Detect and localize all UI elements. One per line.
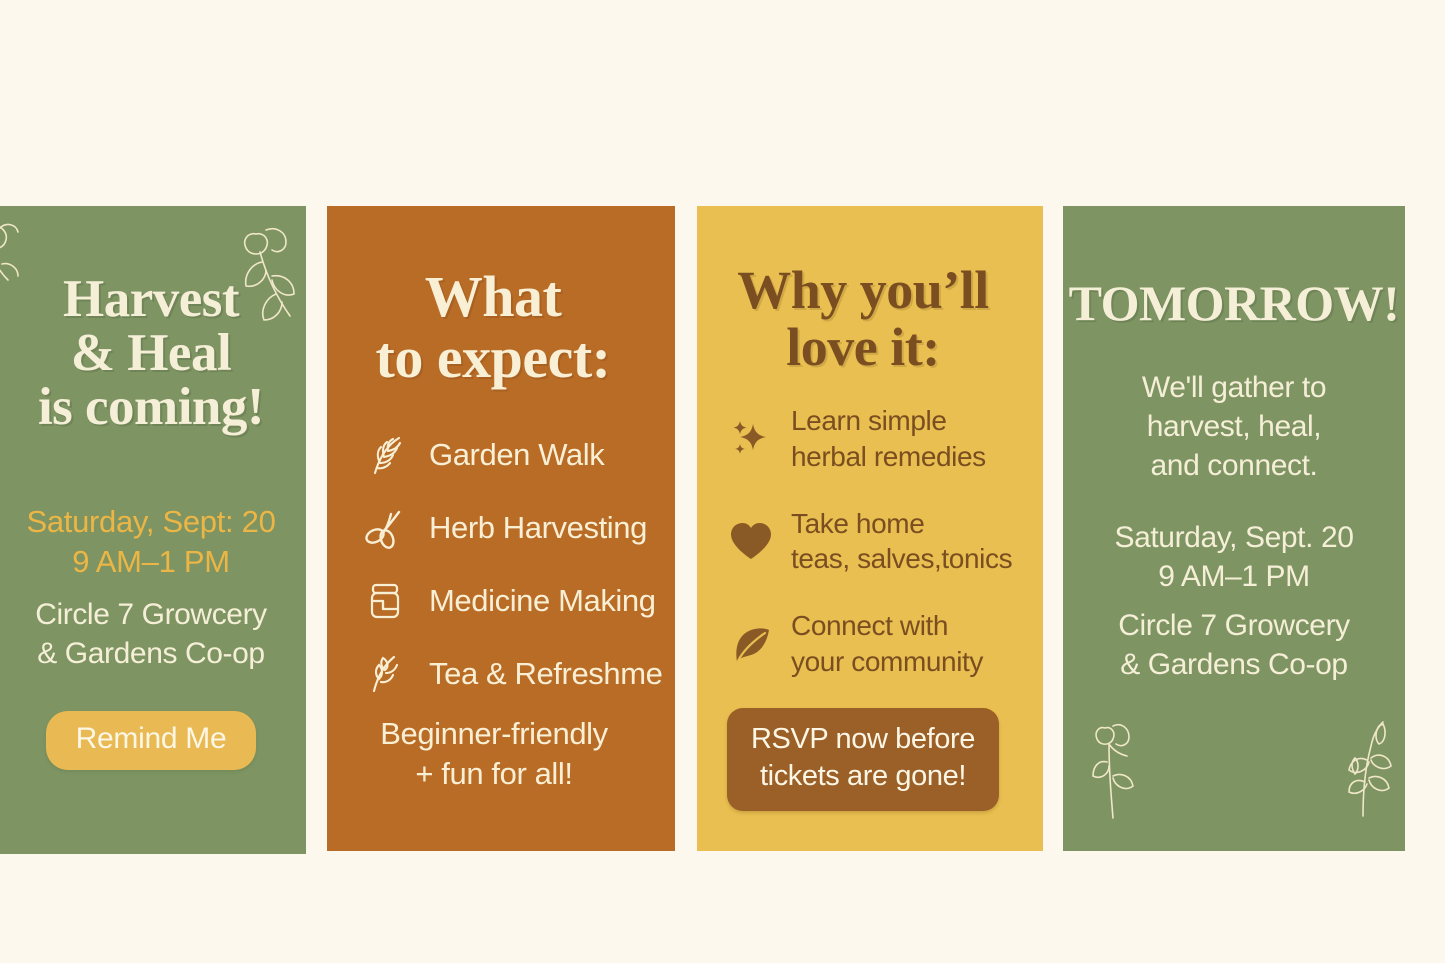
leaf-icon: [727, 620, 775, 668]
rsvp-button[interactable]: RSVP now beforetickets are gone!: [727, 708, 999, 811]
card4-datetime: Saturday, Sept. 209 AM–1 PM: [1063, 518, 1405, 596]
list-item: Garden Walk: [363, 418, 675, 491]
card-what-to-expect: Whatto expect: Garden Walk: [327, 206, 675, 851]
story-cards-canvas: Harvest& Healis coming! Saturday, Sept: …: [0, 0, 1445, 963]
card3-headline: Why you’lllove it:: [697, 262, 1029, 376]
remind-me-button[interactable]: Remind Me: [46, 711, 257, 770]
list-item: Take hometeas, salves,tonics: [727, 506, 1043, 578]
card2-bullet-list: Garden Walk Herb Harvesting: [363, 418, 675, 710]
card1-cta-wrap: Remind Me: [0, 711, 306, 770]
heart-icon: [727, 517, 775, 565]
list-item-label: Tea & Refreshme: [429, 656, 663, 692]
card3-bullet-list: Learn simpleherbal remedies Take hometea…: [727, 403, 1043, 711]
card-why-youll-love-it: Why you’lllove it: Learn simpleherbal re…: [697, 206, 1043, 851]
list-item-label: Connect withyour community: [791, 608, 983, 680]
list-item: Medicine Making: [363, 564, 675, 637]
flower-stem-icon: [1085, 714, 1155, 824]
list-item: Tea & Refreshme: [363, 637, 675, 710]
card1-datetime: Saturday, Sept: 209 AM–1 PM: [0, 502, 306, 581]
list-item-label: Take hometeas, salves,tonics: [791, 506, 1012, 578]
card1-venue: Circle 7 Growcery& Gardens Co-op: [0, 595, 306, 673]
card1-headline: Harvest& Healis coming!: [0, 272, 306, 434]
list-item: Connect withyour community: [727, 608, 1043, 680]
herb-sprig-icon: [363, 652, 407, 696]
list-item: Learn simpleherbal remedies: [727, 403, 1043, 475]
card4-headline: TOMORROW!: [1063, 278, 1405, 328]
sparkle-icon: [727, 415, 775, 463]
list-item-label: Garden Walk: [429, 437, 604, 473]
leaf-branch-icon: [363, 433, 407, 477]
card-tomorrow-reminder: TOMORROW! We'll gather toharvest, heal,a…: [1063, 206, 1405, 851]
card4-blurb: We'll gather toharvest, heal,and connect…: [1063, 368, 1405, 485]
list-item-label: Medicine Making: [429, 583, 656, 619]
card4-venue: Circle 7 Growcery& Gardens Co-op: [1063, 606, 1405, 684]
list-item: Herb Harvesting: [363, 491, 675, 564]
list-item-label: Herb Harvesting: [429, 510, 647, 546]
list-item-label: Learn simpleherbal remedies: [791, 403, 986, 475]
wildflower-stem-icon: [1333, 716, 1403, 821]
card3-cta-wrap: RSVP now beforetickets are gone!: [697, 708, 1029, 811]
jar-icon: [363, 579, 407, 623]
card-harvest-heal-announcement: Harvest& Healis coming! Saturday, Sept: …: [0, 206, 306, 854]
card2-headline: Whatto expect:: [327, 266, 659, 389]
scissors-icon: [363, 506, 407, 550]
card2-footnote: Beginner-friendly+ fun for all!: [327, 714, 661, 795]
